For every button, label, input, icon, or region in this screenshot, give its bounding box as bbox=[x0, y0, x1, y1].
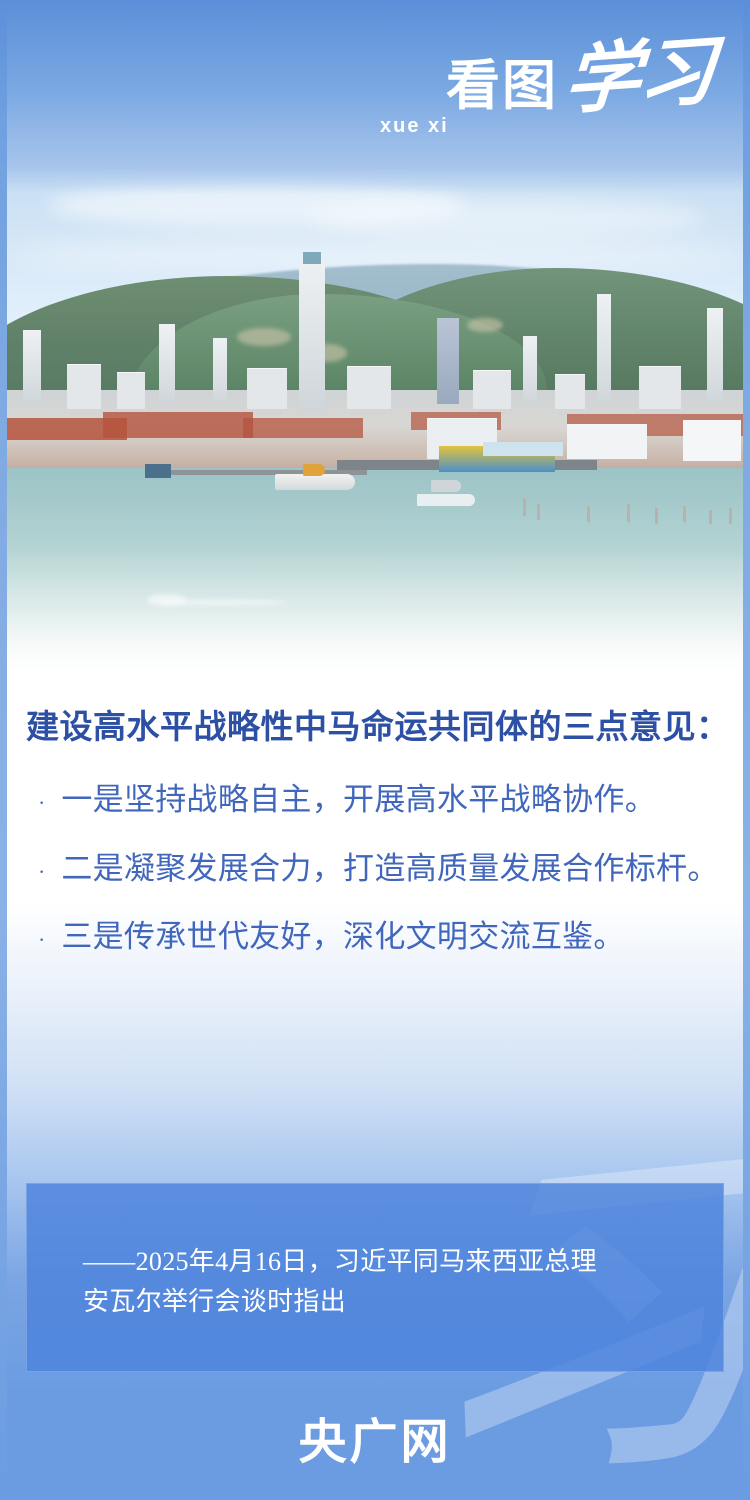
mooring-pile bbox=[523, 498, 526, 516]
mooring-pile bbox=[655, 508, 658, 524]
logo-pinyin: xue xi bbox=[380, 115, 710, 138]
glass-tower bbox=[437, 318, 459, 404]
mooring-pile bbox=[729, 508, 732, 524]
jetty-head-hut bbox=[145, 464, 171, 478]
mooring-pile bbox=[627, 504, 630, 522]
footer-bar: 央广网 bbox=[0, 1373, 750, 1500]
left-tower-c bbox=[213, 338, 227, 404]
hill-clearing-c bbox=[467, 318, 503, 332]
mooring-pile bbox=[587, 506, 590, 522]
logo-row: 看图 学习 bbox=[446, 52, 710, 113]
list-item-label: 二是凝聚发展合力，打造高质量发展合作标杆。 bbox=[61, 851, 718, 888]
attribution-line-1: ——2025年4月16日，习近平同马来西亚总理 bbox=[83, 1242, 683, 1282]
ferry-boat-small-cabin bbox=[431, 480, 461, 492]
ferry-boat-cabin bbox=[303, 464, 325, 476]
poster-root: 看图 学习 xue xi 习 建设高水平战略性中马命运共同体的三点意见： · 一… bbox=[0, 0, 750, 1500]
right-tower-b bbox=[523, 336, 537, 404]
logo-xuexi-calligraphy: 学习 bbox=[562, 42, 715, 113]
ferry-boat-small bbox=[417, 494, 475, 506]
komtar-tower bbox=[299, 260, 325, 410]
building bbox=[473, 370, 511, 409]
list-item-label: 三是传承世代友好，深化文明交流互鉴。 bbox=[61, 919, 624, 956]
attribution-line-2: 安瓦尔举行会谈时指出 bbox=[83, 1282, 683, 1322]
building bbox=[347, 366, 391, 409]
list-item: · 一是坚持战略自主，开展高水平战略协作。 bbox=[38, 782, 724, 819]
list-item: · 三是传承世代友好，深化文明交流互鉴。 bbox=[38, 919, 724, 956]
mooring-pile bbox=[683, 506, 686, 522]
building bbox=[555, 374, 585, 409]
left-tower-b bbox=[159, 324, 175, 404]
building bbox=[117, 372, 145, 409]
mooring-pile bbox=[709, 510, 712, 524]
right-tower bbox=[707, 308, 723, 404]
colonial-building bbox=[683, 420, 741, 461]
terminal-roof-highlight bbox=[483, 442, 563, 456]
secondary-tower bbox=[597, 294, 611, 404]
hero-photo bbox=[7, 168, 743, 680]
komtar-tower-cap bbox=[303, 252, 321, 264]
list-item-label: 一是坚持战略自主，开展高水平战略协作。 bbox=[61, 782, 656, 819]
boat-hull-faint bbox=[147, 594, 187, 606]
bullet-icon: · bbox=[38, 929, 45, 951]
bullet-icon: · bbox=[38, 792, 45, 814]
building bbox=[247, 368, 287, 409]
left-edge-strip bbox=[0, 0, 7, 1500]
waterfront-white-block bbox=[567, 424, 647, 459]
content-block: 建设高水平战略性中马命运共同体的三点意见： · 一是坚持战略自主，开展高水平战略… bbox=[0, 700, 750, 988]
building bbox=[639, 366, 681, 409]
bullet-icon: · bbox=[38, 861, 45, 883]
attribution-box: ——2025年4月16日，习近平同马来西亚总理 安瓦尔举行会谈时指出 bbox=[26, 1183, 724, 1372]
building bbox=[67, 364, 101, 409]
page-title: 建设高水平战略性中马命运共同体的三点意见： bbox=[26, 700, 750, 748]
program-logo: 看图 学习 xue xi bbox=[446, 52, 710, 138]
cloud-layer-b bbox=[307, 198, 707, 238]
ferry-boat-large bbox=[275, 474, 355, 490]
attribution-text: ——2025年4月16日，习近平同马来西亚总理 安瓦尔举行会谈时指出 bbox=[27, 1184, 723, 1323]
logo-kantu-text: 看图 bbox=[446, 61, 558, 113]
points-list: · 一是坚持战略自主，开展高水平战略协作。 · 二是凝聚发展合力，打造高质量发展… bbox=[0, 782, 750, 956]
footer-brand-logo: 央广网 bbox=[298, 1402, 451, 1472]
shophouse-roofs bbox=[243, 418, 363, 438]
harbour-water bbox=[7, 468, 743, 680]
hill-clearing-a bbox=[237, 328, 291, 346]
right-edge-strip bbox=[743, 0, 750, 1500]
left-tower-a bbox=[23, 330, 41, 404]
list-item: · 二是凝聚发展合力，打造高质量发展合作标杆。 bbox=[38, 851, 724, 888]
mooring-pile bbox=[537, 504, 540, 520]
shophouse-roofs bbox=[103, 412, 253, 438]
